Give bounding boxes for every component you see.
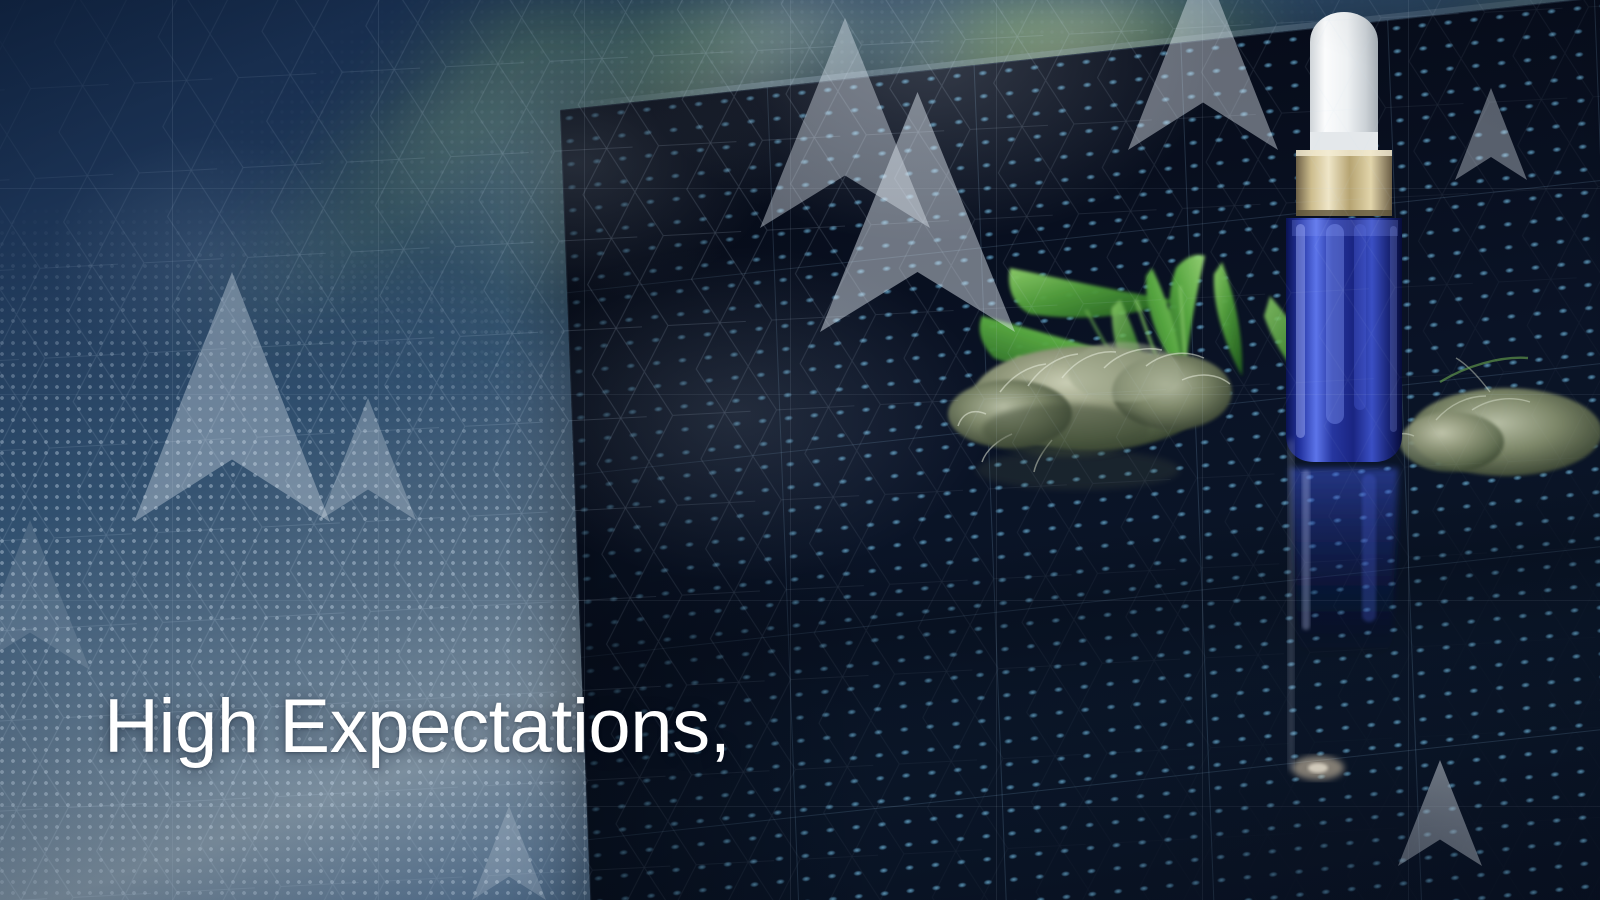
banner-headline: High Expectations, Higher ROI: Fresh Pro… xyxy=(104,484,1444,900)
headline-line-1: High Expectations, xyxy=(104,678,1444,775)
hero-banner: High Expectations, Higher ROI: Fresh Pro… xyxy=(0,0,1600,900)
